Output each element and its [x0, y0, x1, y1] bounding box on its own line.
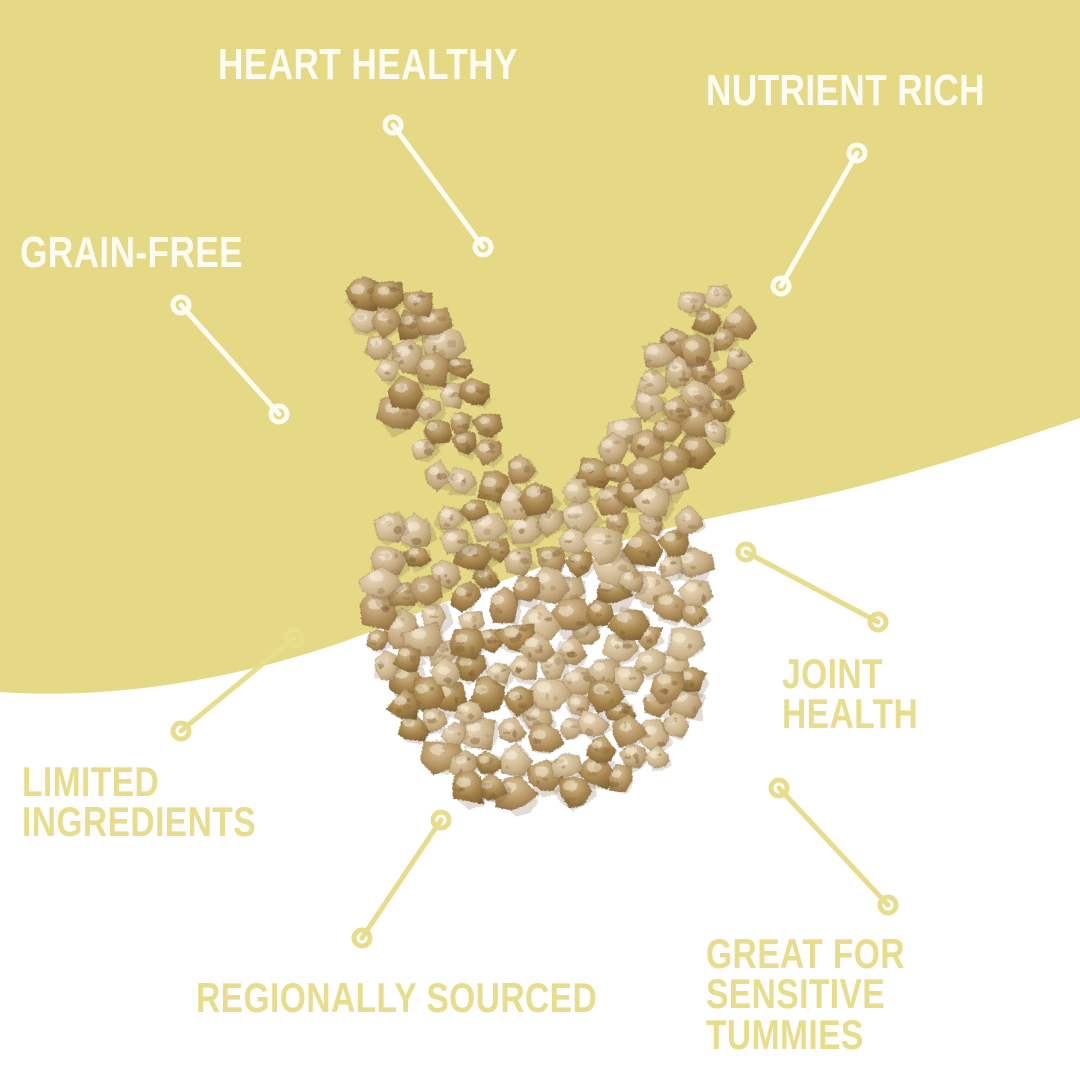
connector-heart-healthy — [385, 117, 491, 255]
label-limited-ingredients: LIMITED INGREDIENTS — [22, 762, 256, 843]
connector-joint-health — [738, 544, 886, 630]
connector-line — [362, 820, 441, 938]
label-great-for-sensitive-tummies: GREAT FOR SENSITIVE TUMMIES — [706, 934, 1005, 1055]
connector-great-for-sensitive-tummies — [771, 780, 896, 913]
connector-line — [779, 788, 888, 905]
connector-grain-free — [173, 297, 287, 422]
label-grain-free: GRAIN-FREE — [20, 232, 243, 274]
connector-lines — [0, 0, 1080, 1080]
label-heart-healthy: HEART HEALTHY — [218, 44, 518, 86]
connector-line — [746, 552, 878, 622]
connector-line — [393, 125, 483, 247]
connector-nutrient-rich — [773, 145, 865, 294]
connector-regionally-sourced — [354, 812, 449, 946]
connector-line — [181, 305, 279, 414]
connector-line — [781, 153, 857, 286]
connector-limited-ingredients — [173, 630, 302, 739]
label-regionally-sourced: REGIONALLY SOURCED — [196, 978, 597, 1018]
label-nutrient-rich: NUTRIENT RICH — [706, 70, 985, 112]
connector-line — [181, 638, 294, 731]
infographic-canvas: HEART HEALTHY NUTRIENT RICH GRAIN-FREE J… — [0, 0, 1080, 1080]
label-joint-health: JOINT HEALTH — [782, 654, 1020, 735]
